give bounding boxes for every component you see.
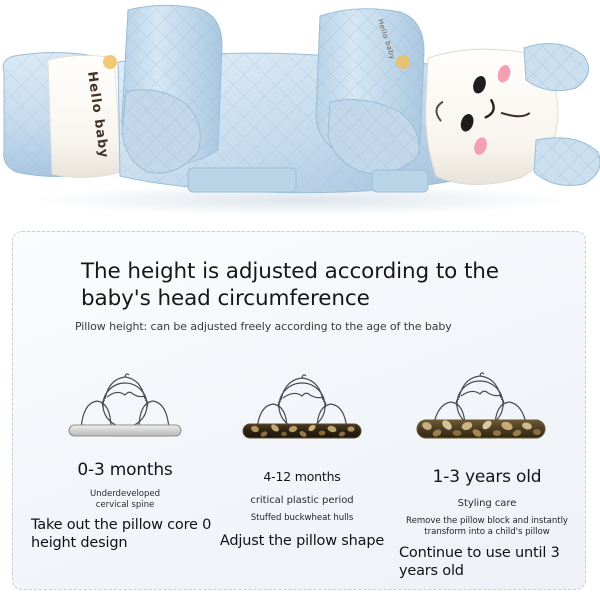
pillow-bar-buckwheat-dark — [243, 423, 361, 438]
action-text: Adjust the pillow shape — [209, 532, 395, 550]
pillow-bar-flat — [69, 425, 181, 436]
detail-text: Stuffed buckwheat hulls — [209, 513, 395, 524]
figure-buckwheat-pillow — [209, 368, 395, 463]
age-label: 1-3 years old — [387, 467, 587, 487]
info-panel: The height is adjusted according to the … — [12, 231, 586, 590]
sun-embroidery-icon — [103, 55, 117, 69]
pillow-bar-buckwheat-full — [417, 418, 545, 438]
sun-embroidery-icon-2 — [396, 55, 410, 69]
column-4-12-months: 4-12 months critical plastic period Stuf… — [209, 358, 395, 550]
panel-headline: The height is adjusted according to the … — [81, 258, 551, 312]
baby-head-outline — [81, 374, 169, 429]
condition-text: critical plastic period — [209, 495, 395, 506]
age-label: 0-3 months — [27, 460, 223, 480]
panel-subhead: Pillow height: can be adjusted freely ac… — [75, 320, 545, 334]
page-root: Hello baby Hello baby — [0, 0, 600, 600]
product-photo: Hello baby Hello baby — [0, 0, 600, 218]
figure-buckwheat-full-pillow — [387, 370, 587, 465]
baby-head-outline — [257, 375, 347, 430]
column-0-3-months: 0-3 months Underdeveloped cervical spine… — [27, 358, 223, 552]
detail-text: Remove the pillow block and instantly tr… — [387, 516, 587, 538]
action-text: Continue to use until 3 years old — [399, 544, 587, 580]
comparison-columns: 0-3 months Underdeveloped cervical spine… — [13, 358, 587, 588]
figure-flat-pillow — [27, 363, 223, 458]
action-text: Take out the pillow core 0 height design — [31, 516, 223, 552]
hello-baby-band: Hello baby — [48, 55, 122, 178]
condition-text: Styling care — [387, 498, 587, 509]
column-1-3-years: 1-3 years old Styling care Remove the pi… — [387, 358, 587, 580]
condition-text: Underdeveloped cervical spine — [27, 489, 223, 511]
age-label: 4-12 months — [209, 469, 395, 484]
